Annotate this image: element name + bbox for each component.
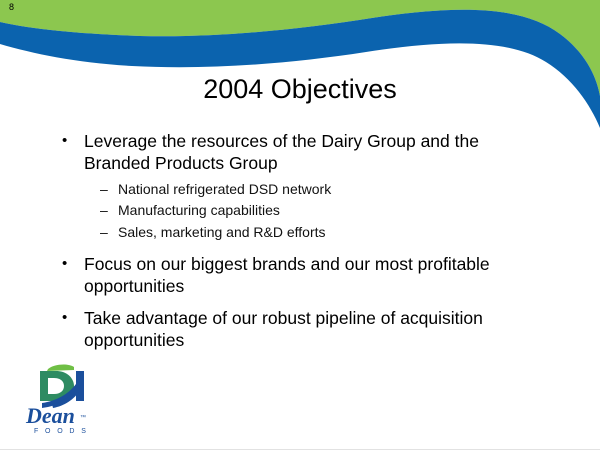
bullet-item: • Take advantage of our robust pipeline … [62, 307, 562, 352]
logo-wordmark: Dean [25, 403, 75, 428]
sub-bullet-item: – Manufacturing capabilities [100, 200, 562, 222]
logo-tagline: F O O D S [34, 428, 88, 435]
sub-bullet-list: – National refrigerated DSD network – Ma… [62, 179, 562, 244]
sub-bullet-item: – National refrigerated DSD network [100, 179, 562, 201]
bullet-text: Take advantage of our robust pipeline of… [84, 307, 514, 352]
sub-bullet-text: Manufacturing capabilities [118, 200, 562, 222]
logo-trademark: ™ [80, 414, 86, 421]
slide-number: 8 [9, 3, 14, 12]
bullet-text: Leverage the resources of the Dairy Grou… [84, 130, 514, 175]
bullet-item: • Leverage the resources of the Dairy Gr… [62, 130, 562, 175]
dash-marker-icon: – [100, 200, 118, 222]
dean-foods-logo-graphic: Dean ™ F O O D S [22, 363, 118, 437]
bullet-marker-icon: • [62, 253, 84, 275]
logo-leaf-icon [47, 365, 74, 371]
sub-bullet-item: – Sales, marketing and R&D efforts [100, 222, 562, 244]
bullet-text: Focus on our biggest brands and our most… [84, 253, 514, 298]
header-wave-decoration [0, 0, 600, 140]
bullet-marker-icon: • [62, 307, 84, 329]
presentation-slide: 8 2004 Objectives • Leverage the resourc… [0, 0, 600, 450]
sub-bullet-text: Sales, marketing and R&D efforts [118, 222, 562, 244]
dash-marker-icon: – [100, 179, 118, 201]
dash-marker-icon: – [100, 222, 118, 244]
bullet-item: • Focus on our biggest brands and our mo… [62, 253, 562, 298]
sub-bullet-text: National refrigerated DSD network [118, 179, 562, 201]
slide-title: 2004 Objectives [0, 74, 600, 105]
bullet-marker-icon: • [62, 130, 84, 152]
wave-blue-shape [0, 10, 600, 128]
slide-body: • Leverage the resources of the Dairy Gr… [62, 130, 562, 353]
dean-foods-logo: Dean ™ F O O D S [22, 363, 118, 437]
